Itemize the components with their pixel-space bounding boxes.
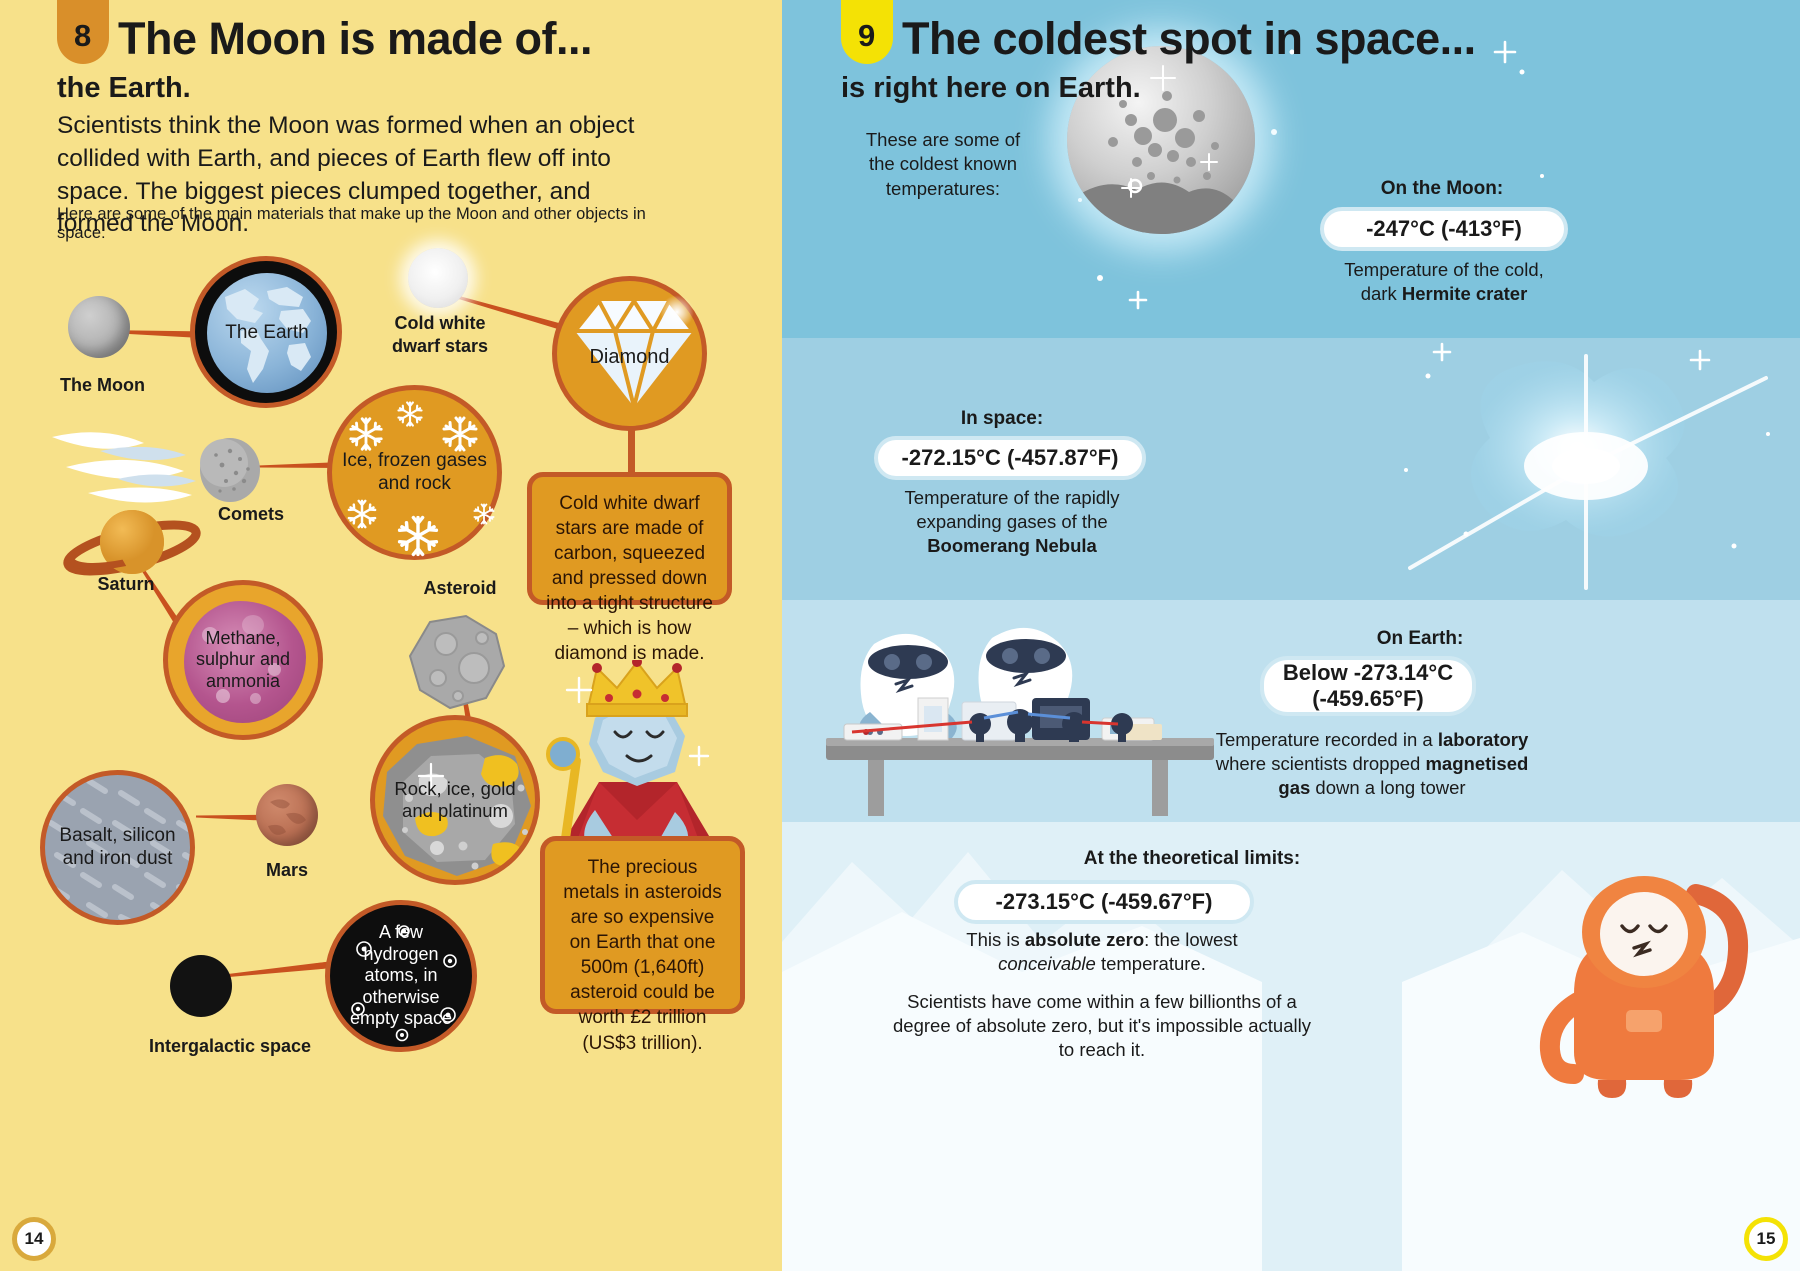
desc-absolute-zero: This is absolute zero: the lowest concei… <box>902 928 1302 976</box>
label-cold-white-dwarf-stars: Cold white dwarf stars <box>380 312 500 357</box>
asteroid-thumbnail <box>404 612 514 717</box>
moon-thumbnail <box>68 296 130 358</box>
mars-material-node: Basalt, silicon and iron dust <box>40 770 195 925</box>
page-number-right: 15 <box>1744 1217 1788 1261</box>
diamond-node-text: Diamond <box>589 345 669 369</box>
label-the-moon: The Moon <box>60 375 140 396</box>
asteroid-material-text: Rock, ice, gold and platinum <box>385 778 525 822</box>
band-laboratory: On Earth: Below -273.14°C (-459.65°F) Te… <box>782 600 1800 822</box>
comet-material-node: Ice, frozen gases and rock <box>327 385 502 560</box>
desc-moon: Temperature of the cold, dark Hermite cr… <box>1274 258 1614 306</box>
desc-earth-l1p: Temperature recorded in a <box>1216 729 1438 750</box>
desc-moon-crater: Hermite crater <box>1402 283 1527 304</box>
saturn-material-node: Methane, sulphur and ammonia <box>163 580 323 740</box>
book-spread: 8 The Moon is made of... the Earth. Scie… <box>0 0 1800 1271</box>
intergalactic-material-text: A few hydrogen atoms, in otherwise empty… <box>349 922 453 1030</box>
caption-in-space: In space: <box>862 408 1142 430</box>
page-subtitle-right: is right here on Earth. <box>841 72 1141 105</box>
diamond-sparkle-icon <box>660 295 694 329</box>
mars-thumbnail <box>256 784 318 846</box>
stem-diamond-box <box>628 425 635 475</box>
white-dwarf-thumbnail <box>408 248 468 308</box>
band-nebula: In space: -272.15°C (-457.87°F) Temperat… <box>782 338 1800 600</box>
left-page: 8 The Moon is made of... the Earth. Scie… <box>0 0 782 1271</box>
section-number-badge-8: 8 <box>57 0 109 64</box>
caption-theoretical-limits: At the theoretical limits: <box>942 848 1442 870</box>
asteroid-material-node: Rock, ice, gold and platinum <box>370 715 540 885</box>
earth-node-text: The Earth <box>225 322 308 345</box>
desc-earth-l3p: down a long tower <box>1310 777 1465 798</box>
caption-on-earth: On Earth: <box>1230 628 1610 650</box>
boomerang-nebula-illustration <box>1370 338 1790 600</box>
section-number-9: 9 <box>858 18 875 54</box>
desc-absolute-zero-b: Scientists have come within a few billio… <box>892 990 1312 1062</box>
temp-pill-earth-line1: Below -273.14°C <box>1283 660 1453 686</box>
temp-pill-space: -272.15°C (-457.87°F) <box>874 436 1146 480</box>
desc-moon-line2-plain: dark <box>1361 283 1402 304</box>
temp-pill-earth: Below -273.14°C (-459.65°F) <box>1260 656 1476 716</box>
page-title-right: The coldest spot in space... <box>902 13 1476 65</box>
earth-globe: The Earth <box>207 273 327 393</box>
page-number-left: 14 <box>12 1217 56 1261</box>
desc-az-term: absolute zero <box>1025 929 1144 950</box>
label-asteroid: Asteroid <box>410 578 510 599</box>
saturn-material-text: Methane, sulphur and ammonia <box>177 628 309 693</box>
infobox-precious-metals: The precious metals in asteroids are so … <box>540 836 745 1014</box>
desc-space-nebula: Boomerang Nebula <box>927 535 1097 556</box>
infobox-white-dwarf: Cold white dwarf stars are made of carbo… <box>527 472 732 605</box>
desc-earth-l2p: where scientists dropped <box>1216 753 1426 774</box>
desc-earth-magnetised: magnetised <box>1425 753 1528 774</box>
page-number-left-value: 14 <box>25 1229 44 1249</box>
desc-az-pre: This is <box>966 929 1025 950</box>
diamond-node: Diamond <box>552 276 707 431</box>
laboratory-illustration <box>822 606 1242 822</box>
desc-earth: Temperature recorded in a laboratory whe… <box>1182 728 1562 800</box>
astronaut-character-illustration <box>1530 844 1760 1104</box>
desc-moon-line1: Temperature of the cold, <box>1344 259 1544 280</box>
section-number-8: 8 <box>74 18 91 54</box>
intergalactic-thumbnail <box>170 955 232 1017</box>
right-intro-line: These are some of the coldest known temp… <box>858 128 1028 201</box>
desc-space-line2: expanding gases of the <box>916 511 1107 532</box>
temp-pill-moon: -247°C (-413°F) <box>1320 207 1568 251</box>
section-number-badge-9: 9 <box>841 0 893 64</box>
left-intro-line: Here are some of the main materials that… <box>57 205 697 243</box>
desc-az-tail: temperature. <box>1096 953 1206 974</box>
desc-earth-gas: gas <box>1278 777 1310 798</box>
intergalactic-material-node: A few hydrogen atoms, in otherwise empty… <box>325 900 477 1052</box>
caption-on-the-moon: On the Moon: <box>1302 178 1582 200</box>
page-subtitle-left: the Earth. <box>57 72 191 105</box>
band-absolute-zero: At the theoretical limits: -273.15°C (-4… <box>782 822 1800 1271</box>
comet-material-text: Ice, frozen gases and rock <box>340 450 490 496</box>
label-mars: Mars <box>252 860 322 881</box>
desc-space-line1: Temperature of the rapidly <box>905 487 1120 508</box>
desc-az-post: : the lowest <box>1144 929 1238 950</box>
label-saturn: Saturn <box>86 574 166 595</box>
temp-pill-earth-line2: (-459.65°F) <box>1312 686 1424 712</box>
page-title-left: The Moon is made of... <box>118 13 592 65</box>
earth-node: The Earth <box>190 256 342 408</box>
label-comets: Comets <box>196 504 306 525</box>
desc-space: Temperature of the rapidly expanding gas… <box>852 486 1172 558</box>
desc-earth-lab: laboratory <box>1438 729 1528 750</box>
desc-az-italic: conceivable <box>998 953 1096 974</box>
temp-pill-absolute-zero: -273.15°C (-459.67°F) <box>954 880 1254 924</box>
page-number-right-value: 15 <box>1757 1229 1776 1249</box>
label-intergalactic-space: Intergalactic space <box>120 1036 340 1057</box>
mars-material-text: Basalt, silicon and iron dust <box>57 825 179 871</box>
right-page: These are some of the coldest known temp… <box>782 0 1800 1271</box>
